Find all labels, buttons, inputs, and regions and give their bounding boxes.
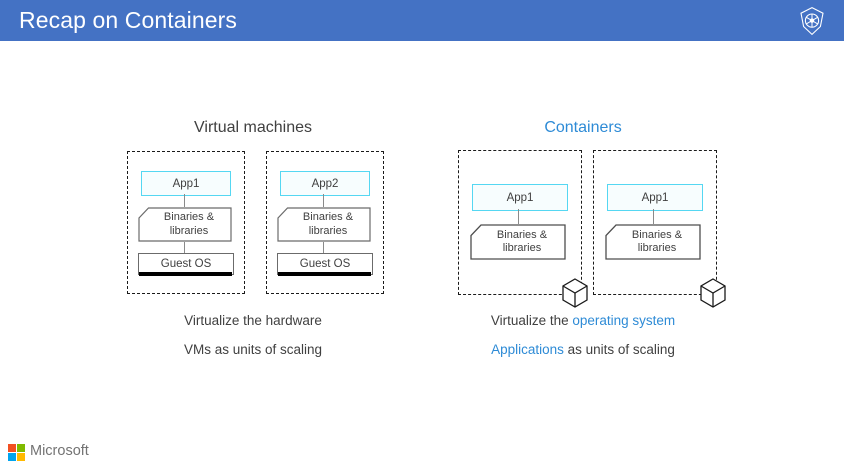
hardware-bar-vm-1: [139, 272, 232, 276]
microsoft-logo-icon: [8, 444, 25, 461]
kubernetes-logo-icon: [797, 6, 827, 36]
microsoft-brand-text: Microsoft: [30, 443, 89, 459]
binaries-box-container-2: Binaries & libraries: [605, 224, 701, 260]
connector-line: [184, 194, 185, 207]
binaries-line-1: Binaries &: [497, 229, 547, 241]
binaries-box-label: Binaries & libraries: [489, 229, 547, 256]
binaries-box-label: Binaries & libraries: [156, 211, 214, 238]
binaries-line-1: Binaries &: [632, 229, 682, 241]
connector-line: [518, 209, 519, 224]
app-box-container-1: App1: [472, 184, 568, 211]
container-boundary-2: [593, 150, 717, 295]
caption-text: as units of scaling: [564, 342, 675, 357]
connector-line: [323, 242, 324, 253]
caption-container-line-2: Applications as units of scaling: [483, 342, 683, 357]
caption-highlight: Applications: [491, 342, 564, 357]
binaries-line-2: libraries: [638, 242, 677, 254]
caption-container-line-1: Virtualize the operating system: [483, 313, 683, 328]
microsoft-logo-square-green: [17, 444, 25, 452]
binaries-line-2: libraries: [503, 242, 542, 254]
binaries-line-2: libraries: [309, 225, 348, 237]
caption-highlight: operating system: [572, 313, 675, 328]
connector-line: [653, 209, 654, 224]
microsoft-logo-square-yellow: [17, 453, 25, 461]
binaries-box-container-1: Binaries & libraries: [470, 224, 566, 260]
binaries-box-vm-2: Binaries & libraries: [277, 207, 371, 242]
slide-title-bar: Recap on Containers: [0, 0, 844, 41]
caption-vm-line-2: VMs as units of scaling: [153, 342, 353, 357]
column-heading-virtual-machines: Virtual machines: [153, 119, 353, 137]
container-cube-icon-2: [698, 277, 728, 309]
microsoft-logo-square-red: [8, 444, 16, 452]
caption-text: Virtualize the: [491, 313, 573, 328]
microsoft-logo-square-blue: [8, 453, 16, 461]
app-box-container-2: App1: [607, 184, 703, 211]
container-boundary-1: [458, 150, 582, 295]
slide-canvas: Recap on Containers Virtual machines Con…: [0, 0, 844, 476]
binaries-box-label: Binaries & libraries: [624, 229, 682, 256]
binaries-line-2: libraries: [170, 225, 209, 237]
slide-title: Recap on Containers: [19, 7, 237, 34]
container-cube-icon-1: [560, 277, 590, 309]
app-box-vm-2: App2: [280, 171, 370, 196]
app-box-vm-1: App1: [141, 171, 231, 196]
caption-text: VMs as units of scaling: [184, 342, 322, 357]
column-heading-containers: Containers: [483, 119, 683, 137]
connector-line: [323, 194, 324, 207]
binaries-line-1: Binaries &: [164, 211, 214, 223]
hardware-bar-vm-2: [278, 272, 371, 276]
binaries-line-1: Binaries &: [303, 211, 353, 223]
binaries-box-label: Binaries & libraries: [295, 211, 353, 238]
caption-vm-line-1: Virtualize the hardware: [153, 313, 353, 328]
binaries-box-vm-1: Binaries & libraries: [138, 207, 232, 242]
caption-text: Virtualize the hardware: [184, 313, 322, 328]
connector-line: [184, 242, 185, 253]
